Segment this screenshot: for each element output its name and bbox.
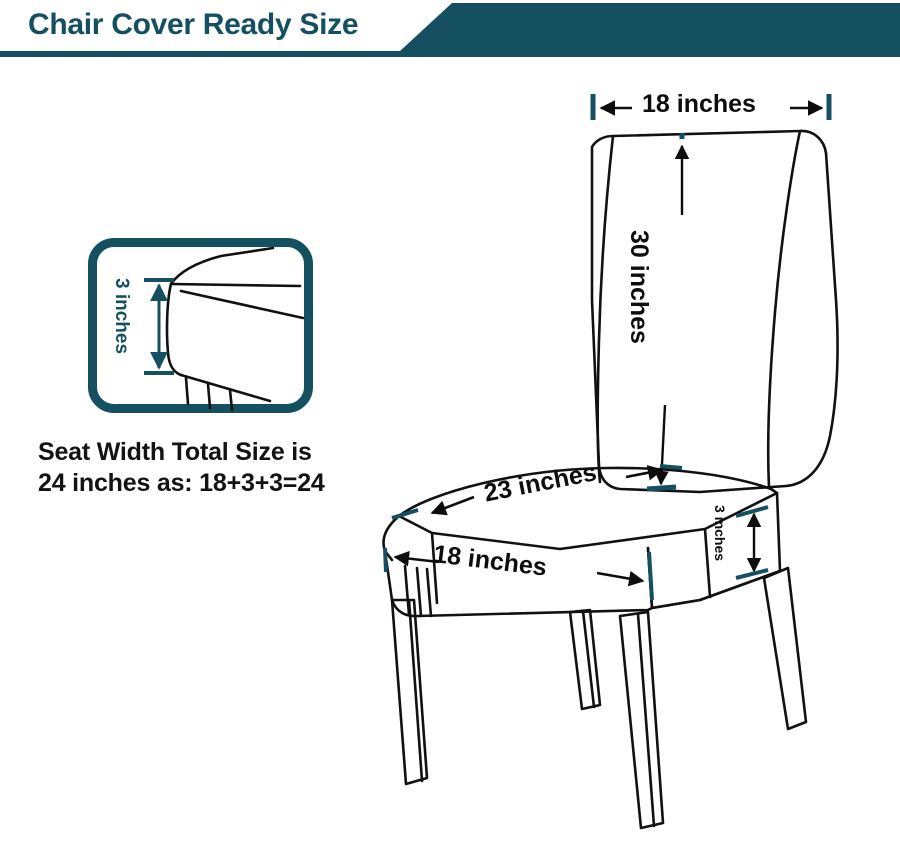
magnified-seat-seam [171, 284, 300, 286]
dimension-label-back-height: 30 inches [626, 230, 651, 390]
magnified-pleat-3 [230, 390, 232, 410]
magnified-skirt-hem [181, 375, 270, 401]
chair-size-infographic: Chair Cover Ready Size [0, 0, 900, 845]
seat-width-caption-line-2: 24 inches as: 18+3+3=24 [38, 468, 438, 499]
magnified-seat-top-edge [171, 248, 273, 284]
dim-seat-side-drop [736, 507, 768, 578]
dimension-label-back-width: 18 inches [642, 92, 756, 117]
dimension-annotations [0, 0, 900, 845]
magnified-pleat-2 [208, 384, 210, 408]
seat-width-caption-line-1: Seat Width Total Size is [38, 437, 438, 468]
seat-width-caption: Seat Width Total Size is 24 inches as: 1… [38, 437, 438, 499]
magnified-skirt-edge [181, 291, 303, 318]
magnified-pleat-1 [186, 378, 188, 404]
dimension-label-inset-height: 3 inches [112, 278, 131, 354]
dimension-label-seat-side-drop: 3 inches [713, 505, 727, 561]
magnified-seat-left-fold [167, 284, 181, 375]
